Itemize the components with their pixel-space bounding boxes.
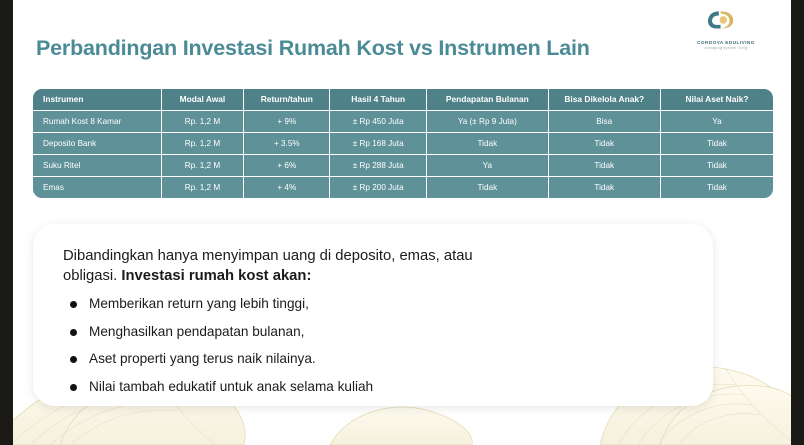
cell-hasil-4-tahun: ± Rp 288 Juta [330,154,427,176]
cell-instrumen: Emas [33,176,161,198]
column-header-nilai-aset-naik: Nilai Aset Naik? [660,89,773,110]
cell-return-tahun: + 6% [244,154,330,176]
logo-wordmark: CORDOVA EDULIVING [678,40,774,45]
cell-hasil-4-tahun: ± Rp 168 Juta [330,132,427,154]
cell-instrumen: Rumah Kost 8 Kamar [33,110,161,132]
cell-dikelola-anak: Bisa [548,110,660,132]
page-title: Perbandingan Investasi Rumah Kost vs Ins… [36,36,590,61]
table-row: Rumah Kost 8 Kamar Rp. 1,2 M + 9% ± Rp 4… [33,110,773,132]
logo-mark-icon [678,6,774,33]
cell-dikelola-anak: Tidak [548,132,660,154]
cell-pendapatan-bulanan: Ya [427,154,548,176]
summary-card: Dibandingkan hanya menyimpan uang di dep… [33,224,713,406]
cell-nilai-aset-naik: Tidak [660,154,773,176]
cell-return-tahun: + 4% [244,176,330,198]
column-header-hasil-4-tahun: Hasil 4 Tahun [330,89,427,110]
cell-modal-awal: Rp. 1,2 M [161,110,244,132]
brand-logo: CORDOVA EDULIVING managing system living [678,6,774,50]
cell-hasil-4-tahun: ± Rp 450 Juta [330,110,427,132]
list-item: Aset properti yang terus naik nilainya. [63,352,683,366]
letterbox-right [791,0,804,445]
cell-pendapatan-bulanan: Tidak [427,176,548,198]
list-item: Nilai tambah edukatif untuk anak selama … [63,380,683,394]
column-header-modal-awal: Modal Awal [161,89,244,110]
table-row: Suku Ritel Rp. 1,2 M + 6% ± Rp 288 Juta … [33,154,773,176]
table-row: Deposito Bank Rp. 1,2 M + 3.5% ± Rp 168 … [33,132,773,154]
cell-nilai-aset-naik: Tidak [660,132,773,154]
column-header-instrumen: Instrumen [33,89,161,110]
letterbox-left [0,0,13,445]
cell-dikelola-anak: Tidak [548,154,660,176]
table-row: Emas Rp. 1,2 M + 4% ± Rp 200 Juta Tidak … [33,176,773,198]
summary-intro-bold: Investasi rumah kost akan: [121,268,311,284]
table-header-row: Instrumen Modal Awal Return/tahun Hasil … [33,89,773,110]
logo-tagline: managing system living [678,46,774,50]
column-header-return-tahun: Return/tahun [244,89,330,110]
slide-root: CORDOVA EDULIVING managing system living… [0,0,804,445]
column-header-pendapatan-bulanan: Pendapatan Bulanan [427,89,548,110]
cell-modal-awal: Rp. 1,2 M [161,176,244,198]
benefit-list: Memberikan return yang lebih tinggi, Men… [63,297,683,393]
cell-instrumen: Deposito Bank [33,132,161,154]
cell-instrumen: Suku Ritel [33,154,161,176]
column-header-dikelola-anak: Bisa Dikelola Anak? [548,89,660,110]
cell-modal-awal: Rp. 1,2 M [161,132,244,154]
list-item: Memberikan return yang lebih tinggi, [63,297,683,311]
cell-nilai-aset-naik: Ya [660,110,773,132]
cell-return-tahun: + 3.5% [244,132,330,154]
summary-intro: Dibandingkan hanya menyimpan uang di dep… [63,246,493,286]
cell-nilai-aset-naik: Tidak [660,176,773,198]
cell-pendapatan-bulanan: Tidak [427,132,548,154]
comparison-table: Instrumen Modal Awal Return/tahun Hasil … [33,89,773,198]
cell-pendapatan-bulanan: Ya (± Rp 9 Juta) [427,110,548,132]
cell-dikelola-anak: Tidak [548,176,660,198]
list-item: Menghasilkan pendapatan bulanan, [63,325,683,339]
cell-modal-awal: Rp. 1,2 M [161,154,244,176]
cell-return-tahun: + 9% [244,110,330,132]
cell-hasil-4-tahun: ± Rp 200 Juta [330,176,427,198]
